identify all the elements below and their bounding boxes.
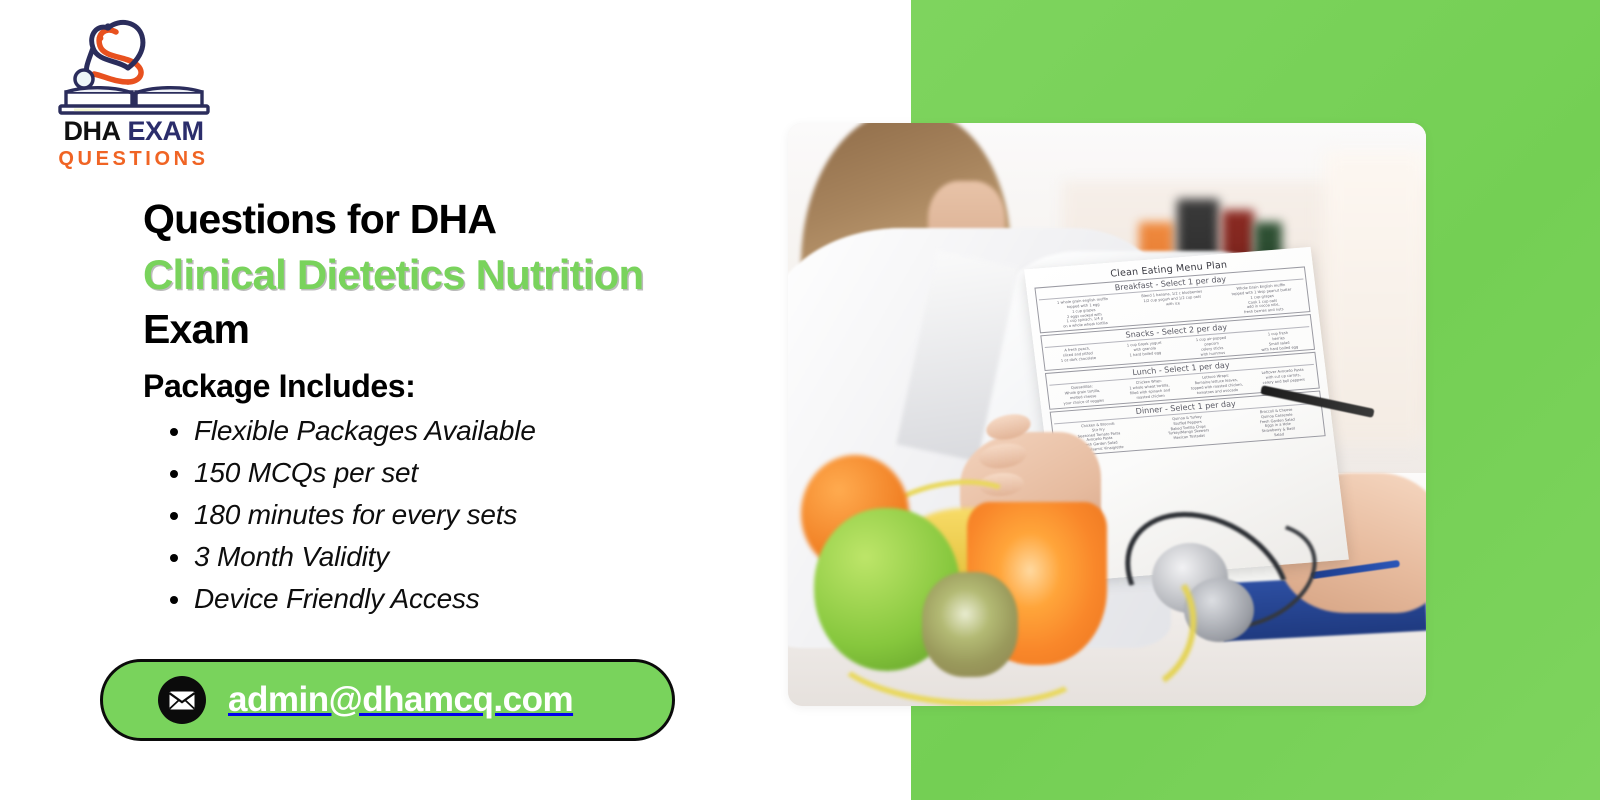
wall-highlight xyxy=(1324,152,1426,444)
brand-logo[interactable]: DHA EXAM QUESTIONS xyxy=(26,12,241,171)
menu-column: Lettuce Wraps: Romaine lettuce leaves, t… xyxy=(1184,373,1250,397)
headline-line-2: Clinical Dietetics Nutrition xyxy=(143,247,843,302)
logo-word-questions: QUESTIONS xyxy=(26,148,241,171)
list-item: 180 minutes for every sets xyxy=(194,494,536,536)
logo-wordmark: DHA EXAM xyxy=(26,118,241,145)
list-item: Device Friendly Access xyxy=(194,578,536,620)
menu-column: 1 cup fresh berries Small salad with har… xyxy=(1246,329,1312,353)
hero-photo: Clean Eating Menu Plan Breakfast - Selec… xyxy=(788,123,1426,706)
package-feature-list: Flexible Packages Available 150 MCQs per… xyxy=(160,410,536,620)
photo-scene: Clean Eating Menu Plan Breakfast - Selec… xyxy=(788,123,1426,706)
package-includes-heading: Package Includes: xyxy=(143,368,415,405)
menu-column: 1 cup Greek yogurt with granola 1 hard b… xyxy=(1112,340,1178,364)
menu-column: Chicken Wrap: 1 whole wheat tortilla, fi… xyxy=(1117,378,1183,402)
envelope-icon xyxy=(158,676,206,724)
menu-column: 1 cup air-popped popcorn celery sticks w… xyxy=(1179,335,1245,359)
menu-column: Quinoa & Turkey Stuffed Peppers Baked To… xyxy=(1144,412,1234,448)
logo-word-dha: DHA xyxy=(63,116,120,146)
headline-line-3: Exam xyxy=(143,302,843,357)
envelope-glyph xyxy=(168,690,196,711)
menu-column: Quesadillas: Whole grain tortilla, melte… xyxy=(1050,383,1116,407)
menu-column: Broccoli & Cheese Quinoa Casserole Fresh… xyxy=(1233,405,1323,441)
email-address: admin@dhamcq.com xyxy=(228,680,573,720)
logo-word-exam: EXAM xyxy=(128,116,204,146)
promo-banner: Clean Eating Menu Plan Breakfast - Selec… xyxy=(0,0,1600,800)
email-contact-button[interactable]: admin@dhamcq.com xyxy=(100,659,675,741)
list-item: 150 MCQs per set xyxy=(194,452,536,494)
list-item: 3 Month Validity xyxy=(194,536,536,578)
menu-column: A fresh peach, sliced and pitted 1 oz da… xyxy=(1045,345,1111,369)
menu-column: Whole Grain English muffin topped with 1… xyxy=(1218,282,1308,318)
page-title: Questions for DHA Clinical Dietetics Nut… xyxy=(143,192,843,357)
stethoscope-book-icon xyxy=(44,12,224,117)
list-item: Flexible Packages Available xyxy=(194,410,536,452)
headline-line-1: Questions for DHA xyxy=(143,192,843,247)
menu-column: 1 whole grain english muffin topped with… xyxy=(1039,296,1129,332)
menu-column: Blend 1 banana, 1/2 c blueberries 1/2 cu… xyxy=(1129,289,1219,325)
